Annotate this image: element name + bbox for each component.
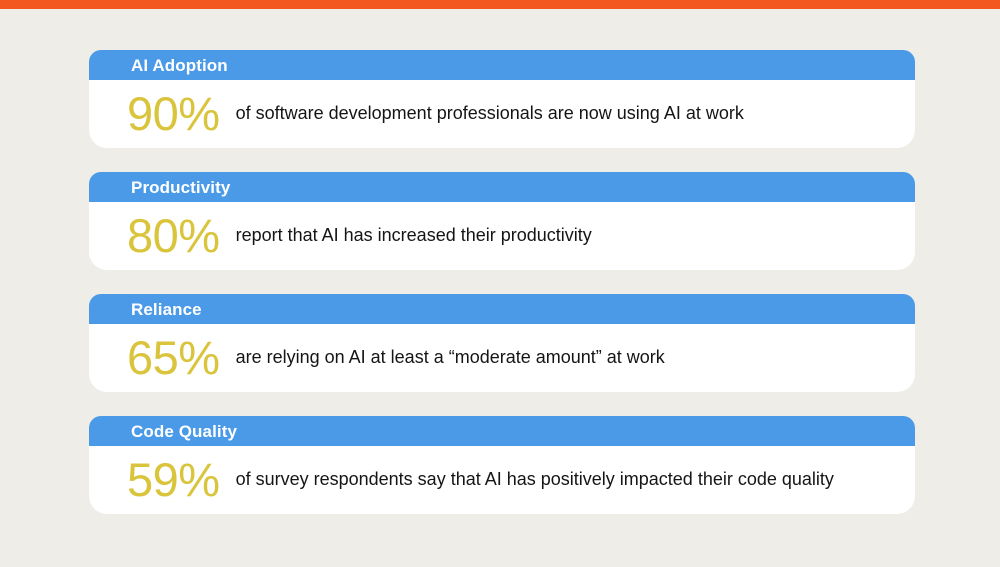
stat-card-body: 59% of survey respondents say that AI ha… [89,446,915,514]
stat-value: 80% [127,212,220,259]
stat-card-body: 90% of software development professional… [89,80,915,148]
stat-card-header: Reliance [89,294,915,324]
stat-card-title: Productivity [131,179,230,196]
top-accent-bar [0,0,1000,9]
stat-card-reliance: Reliance 65% are relying on AI at least … [89,294,915,392]
stat-card-ai-adoption: AI Adoption 90% of software development … [89,50,915,148]
stat-description: report that AI has increased their produ… [236,225,891,247]
stat-card-body: 65% are relying on AI at least a “modera… [89,324,915,392]
stat-value: 59% [127,456,220,503]
stat-description: of survey respondents say that AI has po… [236,469,891,491]
stat-description: of software development professionals ar… [236,103,891,125]
stat-card-header: AI Adoption [89,50,915,80]
stat-card-header: Productivity [89,172,915,202]
stat-value: 90% [127,90,220,137]
stat-card-title: Reliance [131,301,202,318]
stat-card-title: Code Quality [131,423,237,440]
stat-card-body: 80% report that AI has increased their p… [89,202,915,270]
stat-cards-container: AI Adoption 90% of software development … [89,50,915,514]
stat-card-title: AI Adoption [131,57,228,74]
stat-card-productivity: Productivity 80% report that AI has incr… [89,172,915,270]
stat-description: are relying on AI at least a “moderate a… [236,347,891,369]
stat-card-header: Code Quality [89,416,915,446]
stat-card-code-quality: Code Quality 59% of survey respondents s… [89,416,915,514]
stat-value: 65% [127,334,220,381]
